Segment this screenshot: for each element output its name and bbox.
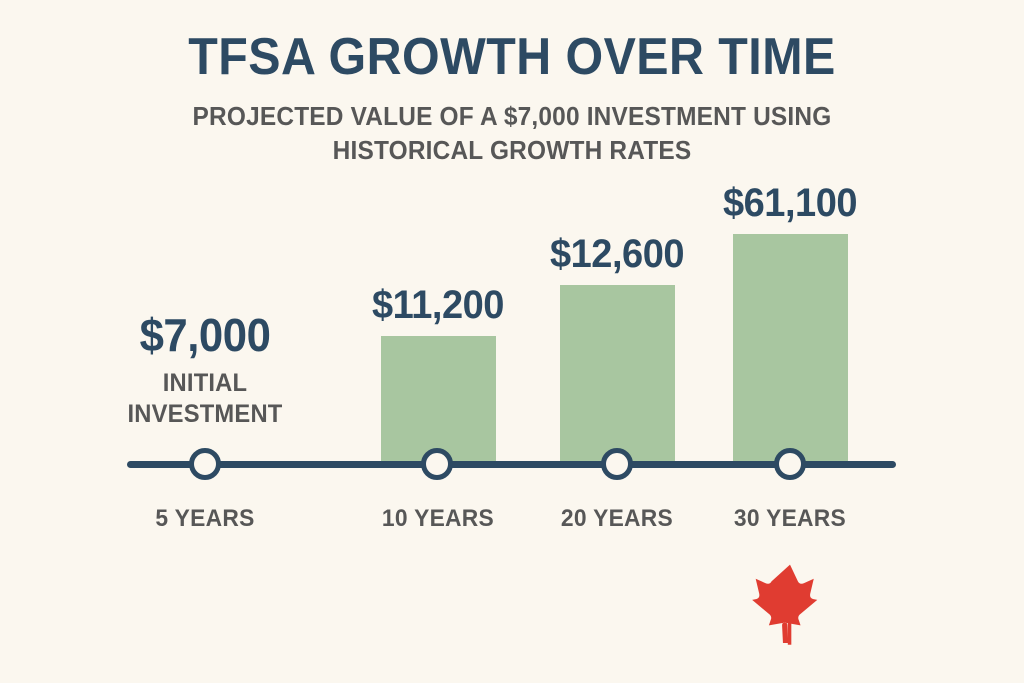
value-label-30-years: $61,100 <box>676 181 904 226</box>
axis-marker-20-years <box>601 448 633 480</box>
value-label-10-years: $11,200 <box>324 283 552 328</box>
maple-leaf-icon <box>744 562 836 650</box>
bar-30-years <box>733 234 848 464</box>
tick-label-5-years: 5 YEARS <box>91 505 319 533</box>
bar-10-years <box>381 336 496 464</box>
caption-line-2: INVESTMENT <box>91 399 319 430</box>
axis-marker-30-years <box>774 448 806 480</box>
initial-investment-caption: INITIAL INVESTMENT <box>91 368 319 429</box>
bar-chart: $7,000 $11,200 $12,600 $61,100 INITIAL I… <box>0 0 1024 683</box>
tick-label-30-years: 30 YEARS <box>676 505 904 533</box>
bar-20-years <box>560 285 675 464</box>
value-label-5-years: $7,000 <box>91 308 319 362</box>
value-label-20-years: $12,600 <box>503 232 731 277</box>
caption-line-1: INITIAL <box>91 368 319 399</box>
infographic-canvas: TFSA GROWTH OVER TIME PROJECTED VALUE OF… <box>0 0 1024 683</box>
axis-marker-5-years <box>189 448 221 480</box>
axis-marker-10-years <box>421 448 453 480</box>
